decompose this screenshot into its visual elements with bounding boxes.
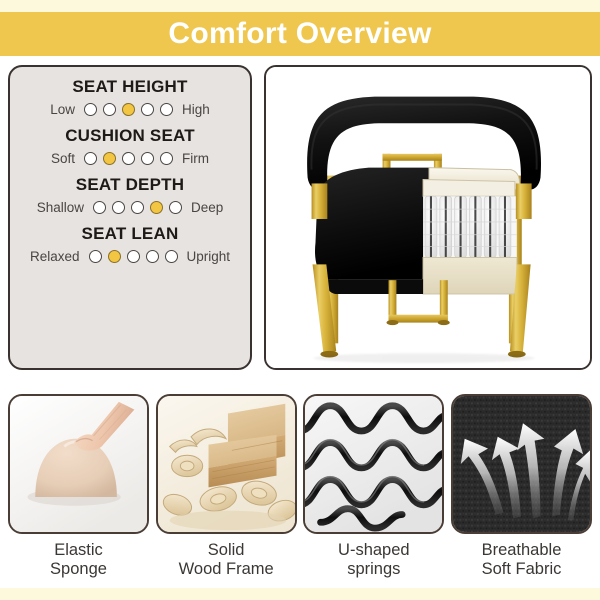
feature-cards: Elastic Sponge — [0, 394, 600, 584]
feature-caption-line1: Solid — [208, 541, 245, 559]
rating-cushion-seat: CUSHION SEAT Soft Firm — [16, 126, 244, 166]
rating-title: SEAT LEAN — [16, 224, 244, 244]
rating-scale: Shallow Deep — [16, 200, 244, 215]
header-band: Comfort Overview — [0, 12, 600, 56]
scale-right-label: Upright — [187, 249, 231, 264]
rating-dot[interactable] — [169, 201, 182, 214]
scale-left-label: Shallow — [37, 200, 84, 215]
feature-card-u-shaped-springs: U-shaped springs — [303, 394, 444, 584]
comfort-ratings-panel: SEAT HEIGHT Low High CUSHION SEAT — [8, 65, 252, 370]
scale-left-label: Relaxed — [30, 249, 80, 264]
scale-right-label: Firm — [182, 151, 209, 166]
feature-caption: U-shaped springs — [338, 541, 410, 579]
scale-right-label: High — [182, 102, 210, 117]
rating-dot[interactable] — [165, 250, 178, 263]
feature-caption-line1: U-shaped — [338, 541, 410, 559]
feature-thumbnail — [156, 394, 297, 534]
feature-caption-line2: springs — [347, 560, 400, 578]
rating-dot[interactable] — [93, 201, 106, 214]
product-image-panel — [264, 65, 592, 370]
accent-chair-cutaway-illustration — [266, 67, 590, 368]
rating-scale: Low High — [16, 102, 244, 117]
rating-dot[interactable] — [141, 103, 154, 116]
feature-caption-line2: Wood Frame — [179, 560, 274, 578]
feature-caption: Solid Wood Frame — [179, 541, 274, 579]
rating-seat-height: SEAT HEIGHT Low High — [16, 77, 244, 117]
feature-caption: Breathable Soft Fabric — [482, 541, 562, 579]
foam-dome-finger-press-icon — [10, 396, 147, 532]
rating-dot[interactable] — [131, 201, 144, 214]
rating-dot[interactable] — [112, 201, 125, 214]
rating-dot-selected[interactable] — [122, 103, 135, 116]
infographic-page: Comfort Overview SEAT HEIGHT Low High — [0, 0, 600, 600]
rating-dots — [84, 152, 173, 165]
rating-dot[interactable] — [146, 250, 159, 263]
feature-caption-line2: Sponge — [50, 560, 107, 578]
rating-dot[interactable] — [103, 103, 116, 116]
rating-title: SEAT DEPTH — [16, 175, 244, 195]
feature-caption-line1: Breathable — [482, 541, 562, 559]
rating-title: CUSHION SEAT — [16, 126, 244, 146]
feature-caption-line1: Elastic — [54, 541, 103, 559]
feature-thumbnail — [451, 394, 592, 534]
page-title: Comfort Overview — [168, 19, 431, 49]
airflow-arrows-fabric-icon — [453, 396, 590, 532]
rating-dot[interactable] — [84, 152, 97, 165]
rating-scale: Soft Firm — [16, 151, 244, 166]
rating-dot[interactable] — [127, 250, 140, 263]
feature-card-breathable-soft-fabric: Breathable Soft Fabric — [451, 394, 592, 584]
feature-thumbnail — [8, 394, 149, 534]
rating-scale: Relaxed Upright — [16, 249, 244, 264]
scale-left-label: Soft — [51, 151, 75, 166]
feature-caption-line2: Soft Fabric — [482, 560, 562, 578]
feature-card-solid-wood-frame: Solid Wood Frame — [156, 394, 297, 584]
rating-dot-selected[interactable] — [103, 152, 116, 165]
wood-blocks-shavings-icon — [158, 396, 295, 532]
rating-dot[interactable] — [141, 152, 154, 165]
rating-dot-selected[interactable] — [150, 201, 163, 214]
rating-seat-lean: SEAT LEAN Relaxed Upright — [16, 224, 244, 264]
rating-dot[interactable] — [84, 103, 97, 116]
feature-thumbnail — [303, 394, 444, 534]
scale-left-label: Low — [50, 102, 75, 117]
rating-dot[interactable] — [160, 152, 173, 165]
rating-dots — [89, 250, 178, 263]
rating-dot[interactable] — [122, 152, 135, 165]
feature-caption: Elastic Sponge — [50, 541, 107, 579]
rating-seat-depth: SEAT DEPTH Shallow Deep — [16, 175, 244, 215]
scale-right-label: Deep — [191, 200, 223, 215]
rating-dot[interactable] — [89, 250, 102, 263]
rating-dot[interactable] — [160, 103, 173, 116]
serpentine-springs-icon — [305, 396, 442, 532]
rating-dot-selected[interactable] — [108, 250, 121, 263]
feature-card-elastic-sponge: Elastic Sponge — [8, 394, 149, 584]
rating-dots — [84, 103, 173, 116]
rating-dots — [93, 201, 182, 214]
rating-title: SEAT HEIGHT — [16, 77, 244, 97]
content-stage: SEAT HEIGHT Low High CUSHION SEAT — [0, 56, 600, 588]
